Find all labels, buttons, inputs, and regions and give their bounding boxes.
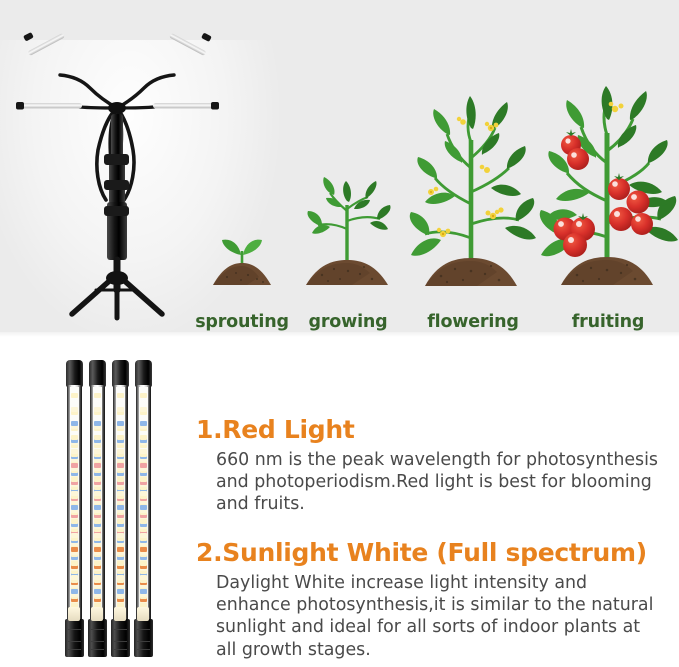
section-1-body: 660 nm is the peak wavelength for photos… <box>216 449 658 516</box>
led-diode <box>117 519 124 524</box>
led-diode <box>71 533 78 538</box>
fruiting-plant-svg <box>537 77 679 293</box>
led-diode <box>140 407 147 412</box>
spectrum-copy: 1.Red Light 660 nm is the peak wavelengt… <box>196 415 658 661</box>
led-diode <box>71 463 78 468</box>
led-bar-tube <box>136 385 151 625</box>
led-diode <box>140 547 147 552</box>
led-diode <box>94 393 101 398</box>
led-diode <box>140 477 147 482</box>
led-diode <box>117 449 124 454</box>
led-diode <box>117 463 124 468</box>
led-bar-cap <box>135 360 152 387</box>
base-seam <box>114 641 127 642</box>
led-diode <box>117 547 124 552</box>
led-diode <box>71 561 78 566</box>
led-diode <box>117 435 124 440</box>
led-bar-tube <box>67 385 82 625</box>
led-bar-tube <box>113 385 128 625</box>
led-diode <box>140 421 147 426</box>
led-diode <box>94 547 101 552</box>
led-diode <box>71 449 78 454</box>
led-diode <box>117 561 124 566</box>
led-strip <box>70 387 79 623</box>
led-bar-base <box>111 619 130 657</box>
led-strip <box>93 387 102 623</box>
led-diode <box>94 519 101 524</box>
section-1-heading: 1.Red Light <box>196 415 658 445</box>
led-strip <box>139 387 148 623</box>
led-diode <box>71 519 78 524</box>
led-diode <box>140 449 147 454</box>
led-diode <box>140 463 147 468</box>
hero-panel: sprouting <box>0 0 679 332</box>
led-diode <box>94 533 101 538</box>
product-infographic: sprouting <box>0 0 679 667</box>
led-bar-cap <box>112 360 129 387</box>
led-diode <box>71 575 78 580</box>
led-bar <box>135 360 152 657</box>
led-diode <box>71 589 78 594</box>
led-diode <box>140 435 147 440</box>
led-diode <box>94 421 101 426</box>
led-diode <box>117 407 124 412</box>
led-diode <box>94 589 101 594</box>
young-plant-svg <box>300 171 396 293</box>
led-bar <box>66 360 83 657</box>
led-diode <box>94 435 101 440</box>
led-diode <box>140 589 147 594</box>
led-bar-base <box>134 619 153 657</box>
stage-fruiting: fruiting <box>537 0 679 332</box>
led-diode <box>71 407 78 412</box>
led-diode <box>117 533 124 538</box>
led-bar-end-light <box>91 607 103 621</box>
stage-sprouting: sprouting <box>187 0 297 332</box>
stage-label: flowering <box>427 312 519 332</box>
fruiting-plant-art <box>537 77 679 298</box>
led-bar-base <box>65 619 84 657</box>
led-diode <box>71 421 78 426</box>
led-diode <box>94 477 101 482</box>
led-diode <box>94 463 101 468</box>
led-diode <box>94 449 101 454</box>
led-diode <box>117 589 124 594</box>
base-seam <box>137 649 150 650</box>
led-diode <box>140 561 147 566</box>
led-diode <box>71 547 78 552</box>
led-diode <box>117 491 124 496</box>
section-2-body: Daylight White increase light intensity … <box>216 572 658 661</box>
led-diode <box>94 561 101 566</box>
led-diode <box>117 505 124 510</box>
led-bar-end-light <box>114 607 126 621</box>
base-seam <box>68 649 81 650</box>
base-seam <box>91 629 104 630</box>
led-diode <box>117 421 124 426</box>
young-plant-art <box>300 171 396 298</box>
seedling-art <box>203 227 281 298</box>
led-diode <box>94 491 101 496</box>
led-diode <box>140 533 147 538</box>
led-diode <box>117 477 124 482</box>
stage-growing: growing <box>293 0 403 332</box>
led-diode <box>71 477 78 482</box>
stage-label: sprouting <box>195 312 289 332</box>
stage-label: growing <box>309 312 388 332</box>
led-diode <box>140 519 147 524</box>
stage-label: fruiting <box>572 312 644 332</box>
base-seam <box>137 641 150 642</box>
led-strip <box>116 387 125 623</box>
led-bar <box>89 360 106 657</box>
base-seam <box>68 629 81 630</box>
led-diode <box>71 435 78 440</box>
led-bar-cap <box>66 360 83 387</box>
base-seam <box>68 641 81 642</box>
base-seam <box>114 649 127 650</box>
led-diode <box>140 505 147 510</box>
led-diode <box>94 407 101 412</box>
led-bar-base <box>88 619 107 657</box>
seedling-svg <box>203 227 281 293</box>
base-seam <box>114 629 127 630</box>
led-diode <box>117 575 124 580</box>
led-bar-end-light <box>137 607 149 621</box>
led-diode <box>71 393 78 398</box>
led-diode <box>117 393 124 398</box>
led-bar-group <box>66 360 176 660</box>
led-diode <box>71 491 78 496</box>
flowering-plant-svg <box>405 88 541 293</box>
base-seam <box>137 629 150 630</box>
led-diode <box>140 491 147 496</box>
base-seam <box>91 649 104 650</box>
led-diode <box>94 505 101 510</box>
led-bar-cap <box>89 360 106 387</box>
led-bar-end-light <box>68 607 80 621</box>
led-diode <box>71 505 78 510</box>
section-2-heading: 2.Sunlight White (Full spectrum) <box>196 538 658 568</box>
growth-stages: sprouting <box>165 0 679 332</box>
led-diode <box>94 575 101 580</box>
led-diode <box>140 575 147 580</box>
led-bar-tube <box>90 385 105 625</box>
stage-flowering: flowering <box>405 0 541 332</box>
led-bar <box>112 360 129 657</box>
spectrum-section: 1.Red Light 660 nm is the peak wavelengt… <box>0 337 679 667</box>
base-seam <box>91 641 104 642</box>
led-diode <box>140 393 147 398</box>
flowering-plant-art <box>405 88 541 298</box>
